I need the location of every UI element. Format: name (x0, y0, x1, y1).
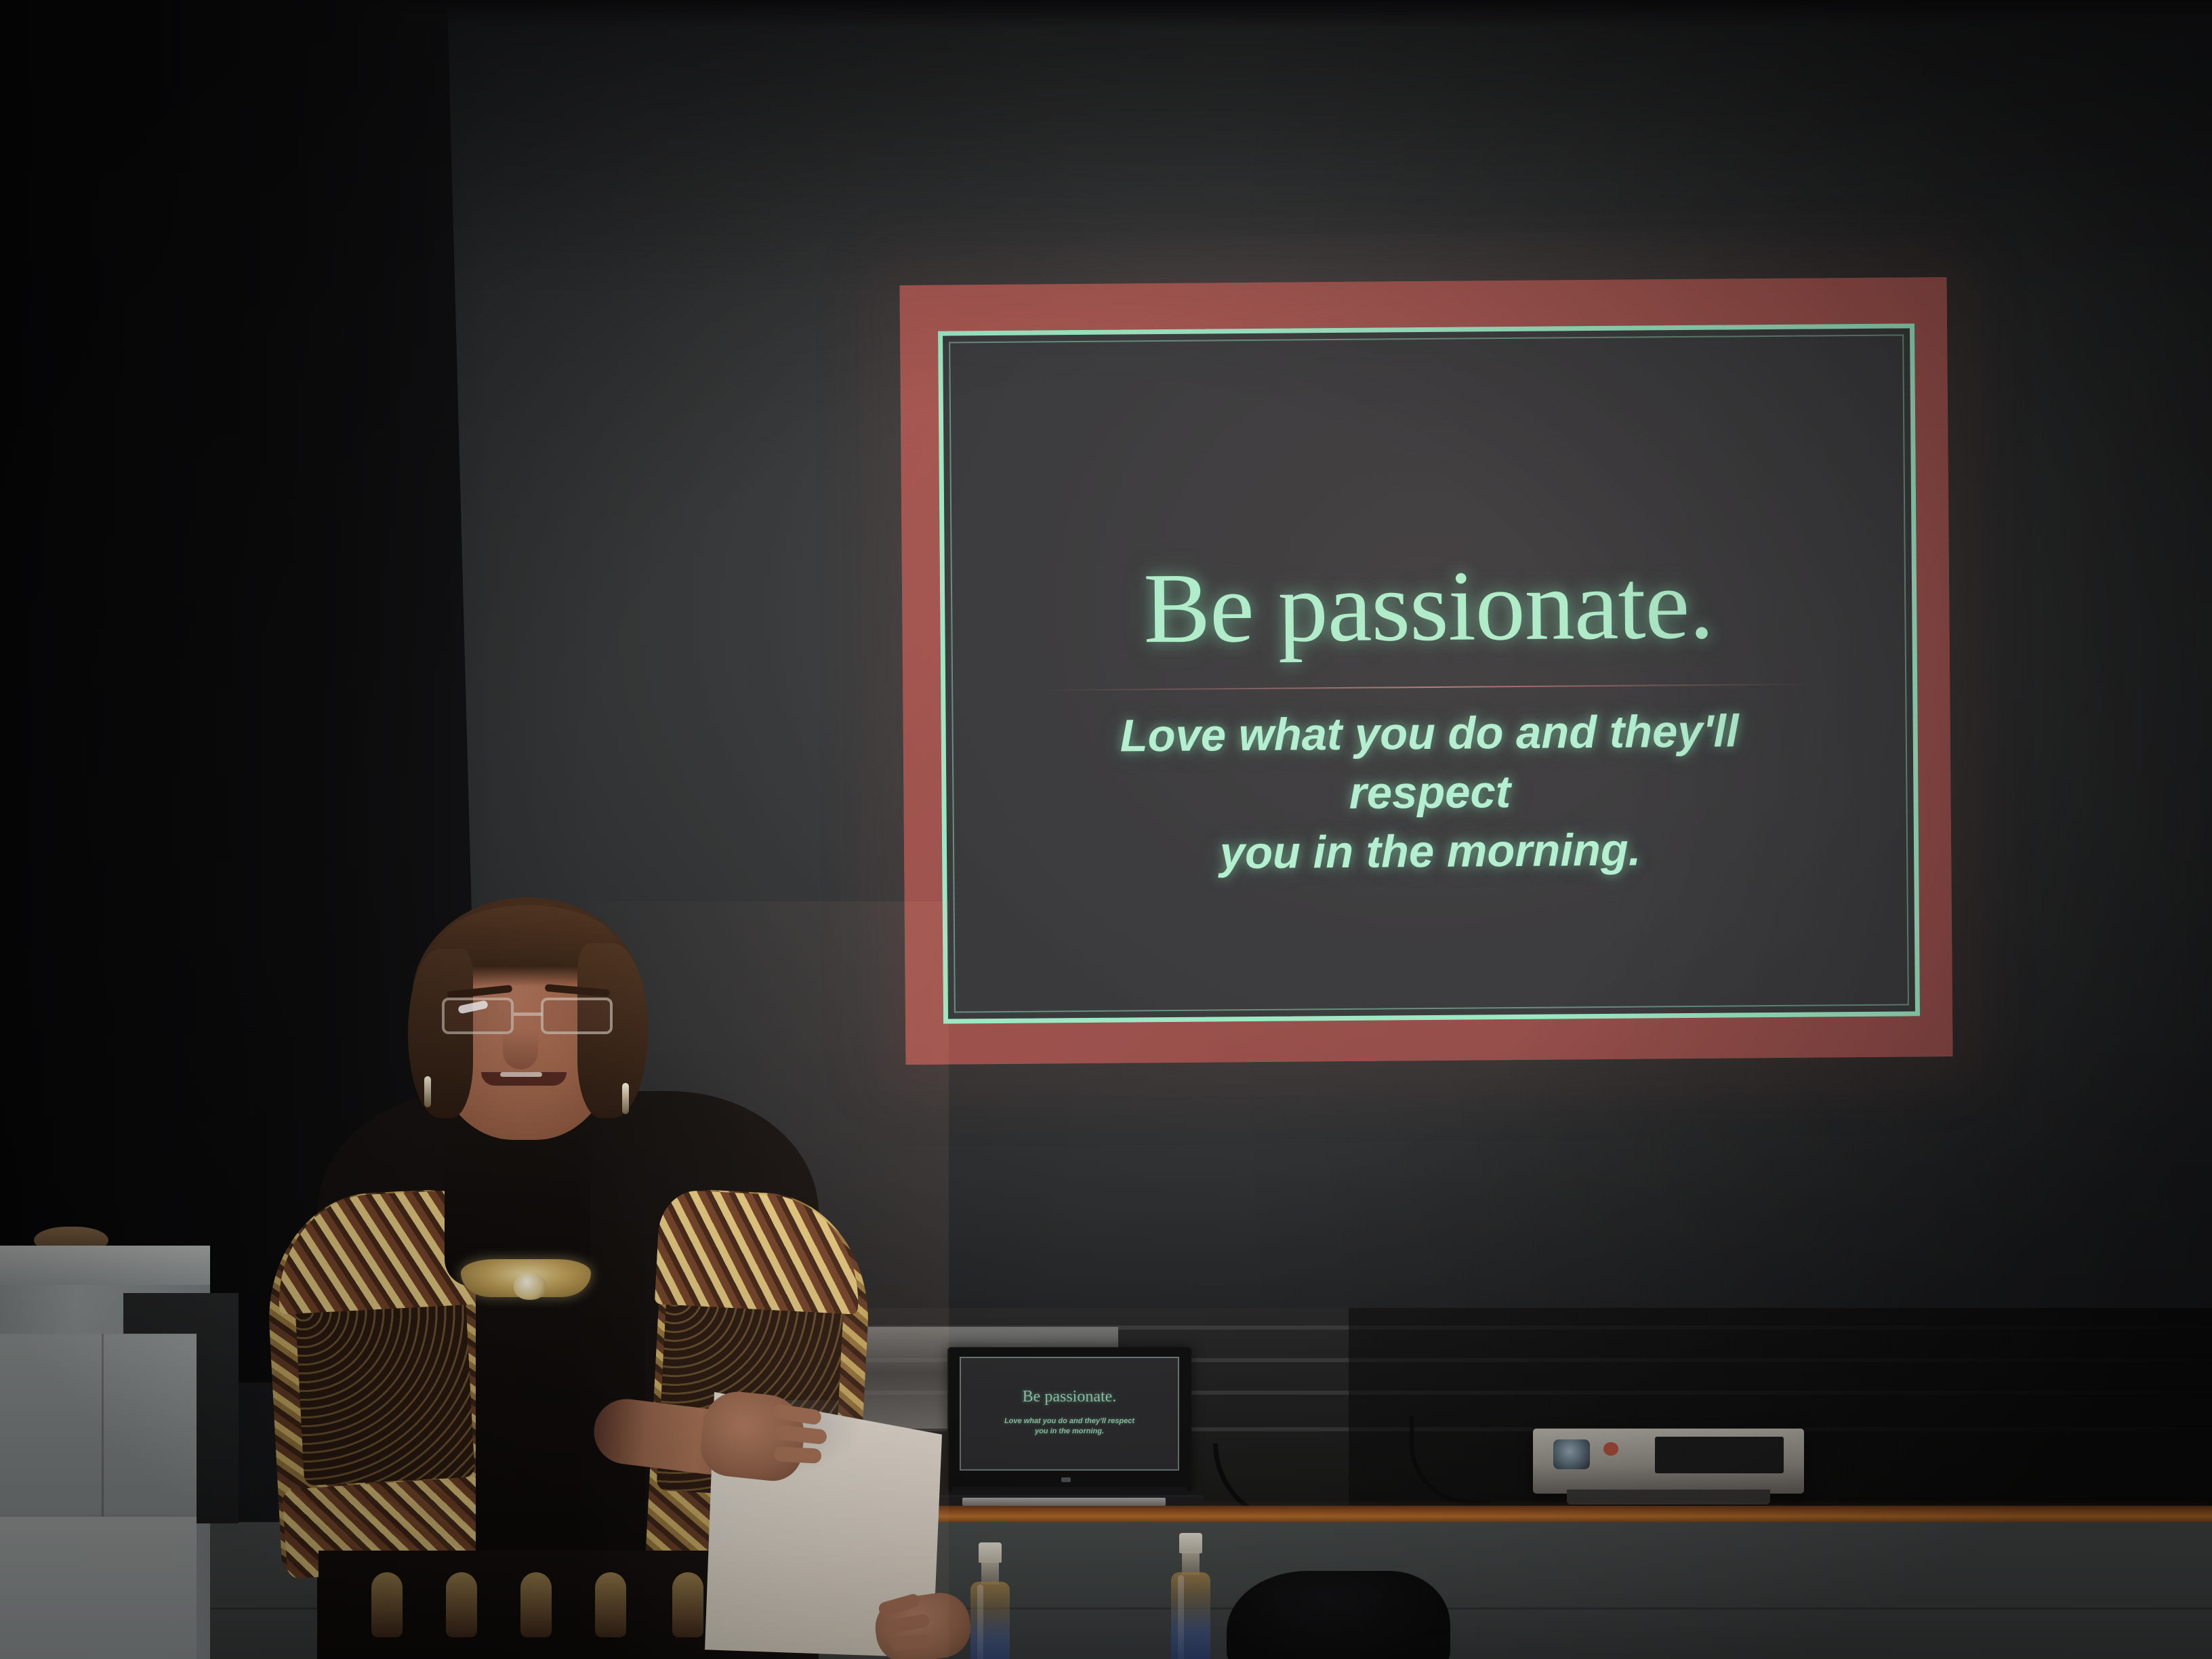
skirt-embroidery-motif (672, 1572, 703, 1637)
laptop-logo-dot (1061, 1477, 1071, 1482)
bottle-neck (1182, 1552, 1200, 1575)
lectern-front-panel (0, 1334, 197, 1517)
bottle-body (970, 1582, 1010, 1659)
projector-base (1567, 1490, 1770, 1504)
laptop-keyboard[interactable] (962, 1498, 1166, 1506)
eyeglass-bridge (514, 1012, 542, 1016)
slide-subtitle: Love what you do and they'll respect you… (1050, 701, 1810, 884)
skirt-embroidery-motif (520, 1572, 552, 1637)
presenter (258, 901, 949, 1659)
projected-slide: Be passionate. Love what you do and they… (900, 277, 1953, 1065)
lectern-top-surface (0, 1246, 210, 1285)
bottle-neck (981, 1561, 999, 1584)
projector-lens (1553, 1439, 1590, 1469)
stage-curtain-top-edge (407, 0, 2212, 28)
laptop-slide-title: Be passionate. (961, 1388, 1178, 1406)
projector-status-led (1603, 1442, 1618, 1456)
bottle-cap (1179, 1533, 1202, 1553)
laptop-subtitle-line-1: Love what you do and they'll respect (1004, 1417, 1134, 1425)
bottle-highlight (977, 1584, 983, 1659)
projector-top-panel (1655, 1437, 1784, 1473)
lectern-base (0, 1517, 197, 1659)
skirt-embroidery-motif (371, 1572, 403, 1637)
bag[interactable] (1227, 1571, 1450, 1659)
lectern-panel-seam (102, 1334, 104, 1517)
slide-green-frame: Be passionate. Love what you do and they… (938, 323, 1920, 1023)
eyeglass-lens-right (541, 998, 613, 1034)
necklace-pendant (514, 1273, 546, 1300)
laptop-slide-subtitle: Love what you do and they'll respect you… (979, 1416, 1160, 1437)
slide-title: Be passionate. (1143, 554, 1714, 661)
laptop[interactable]: Be passionate. Love what you do and they… (947, 1347, 1191, 1517)
skirt-embroidery-motif (595, 1572, 626, 1637)
nose (503, 1030, 538, 1069)
earring-right (622, 1083, 629, 1114)
finger (773, 1446, 821, 1464)
bottle-highlight (1178, 1575, 1184, 1659)
projector[interactable] (1533, 1429, 1804, 1494)
presentation-photo: Be passionate. Love what you do and they… (0, 0, 2212, 1659)
teeth-highlight (500, 1072, 542, 1077)
skirt-embroidery-motif (446, 1572, 477, 1637)
jacket-left-panel (295, 1294, 475, 1486)
bottle-cap (979, 1542, 1002, 1563)
slide-divider-rule (1043, 683, 1816, 691)
slide-content: Be passionate. Love what you do and they… (943, 328, 1915, 1019)
table-edge (732, 1506, 2212, 1523)
slide-subtitle-line-1: Love what you do and they'll respect (1120, 705, 1739, 819)
laptop-screen: Be passionate. Love what you do and they… (960, 1357, 1179, 1471)
earring-left (424, 1076, 431, 1107)
bottle-body (1171, 1572, 1210, 1659)
laptop-subtitle-line-2: you in the morning. (1035, 1427, 1104, 1435)
slide-subtitle-line-2: you in the morning. (1220, 825, 1641, 879)
jacket-right-yoke (655, 1189, 863, 1314)
